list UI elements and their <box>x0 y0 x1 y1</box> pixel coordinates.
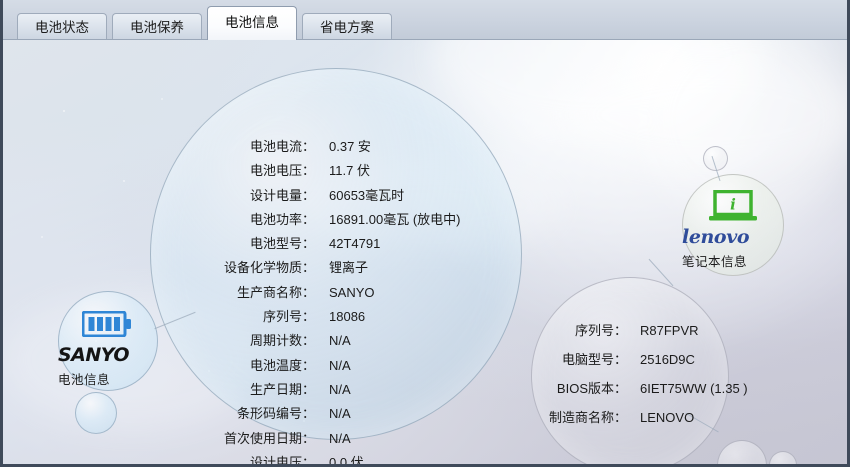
info-row-value: 18086 <box>329 309 365 324</box>
lenovo-badge-title: 笔记本信息 <box>682 251 784 270</box>
info-row-value: 锂离子 <box>329 257 368 276</box>
info-row: 首次使用日期：N/A <box>187 428 461 452</box>
info-row: 设计电量：60653毫瓦时 <box>187 185 461 209</box>
info-row-value: N/A <box>329 358 351 373</box>
info-row-value: 60653毫瓦时 <box>329 185 404 204</box>
sanyo-brand-text: SANYO <box>58 346 158 365</box>
battery-icon <box>58 291 158 342</box>
info-row-label: 序列号： <box>541 320 627 339</box>
info-row-value: 16891.00毫瓦 (放电中) <box>329 209 461 228</box>
info-row-value: 6IET75WW (1.35 ) <box>640 381 748 396</box>
info-row: 生产日期：N/A <box>187 379 461 403</box>
info-row-label: 生产商名称： <box>187 282 315 301</box>
info-row: 生产商名称：SANYO <box>187 282 461 306</box>
info-row-label: 电池电流： <box>187 136 315 155</box>
info-row: 序列号：18086 <box>187 306 461 330</box>
info-row: 条形码编号：N/A <box>187 403 461 427</box>
laptop-info-icon: i <box>682 174 784 227</box>
speck-decoration <box>41 236 43 238</box>
info-row-label: 设计电量： <box>187 185 315 204</box>
info-row-value: N/A <box>329 431 351 446</box>
info-row: 电池型号：42T4791 <box>187 233 461 257</box>
info-row: 周期计数：N/A <box>187 330 461 354</box>
small-bubble-decoration <box>717 440 767 464</box>
content-canvas: SANYO 电池信息 i lenovo 笔记本信息 电池电流：0.37 安电池电… <box>3 40 847 464</box>
speck-decoration <box>161 98 163 100</box>
sanyo-badge[interactable]: SANYO 电池信息 <box>58 291 158 391</box>
window-border-left <box>0 0 3 467</box>
info-row-value: 42T4791 <box>329 236 380 251</box>
lenovo-brand-text: lenovo <box>682 228 784 247</box>
info-row-label: 设计电压： <box>187 452 315 464</box>
sanyo-badge-title: 电池信息 <box>58 369 158 388</box>
info-row-value: N/A <box>329 333 351 348</box>
battery-info-list: 电池电流：0.37 安电池电压：11.7 伏设计电量：60653毫瓦时电池功率：… <box>187 136 461 464</box>
speck-decoration <box>63 110 65 112</box>
info-row-value: LENOVO <box>640 410 694 425</box>
info-row: 电池电压：11.7 伏 <box>187 160 461 184</box>
info-row: 设备化学物质：锂离子 <box>187 257 461 281</box>
info-row-label: 生产日期： <box>187 379 315 398</box>
tab-1[interactable]: 电池保养 <box>112 13 202 40</box>
info-row-value: 11.7 伏 <box>329 160 370 179</box>
tab-0[interactable]: 电池状态 <box>17 13 107 40</box>
tab-list: 电池状态电池保养电池信息省电方案 <box>17 6 397 40</box>
info-row-value: 0.37 安 <box>329 136 371 155</box>
small-bubble-decoration <box>769 451 797 464</box>
info-row-label: 条形码编号： <box>187 403 315 422</box>
info-row: 设计电压：0.0 伏 <box>187 452 461 464</box>
info-row: BIOS版本：6IET75WW (1.35 ) <box>541 378 748 407</box>
info-row-value: 0.0 伏 <box>329 452 364 464</box>
computer-info-list: 序列号：R87FPVR电脑型号：2516D9CBIOS版本：6IET75WW (… <box>541 320 748 436</box>
info-row: 制造商名称：LENOVO <box>541 407 748 436</box>
svg-text:i: i <box>730 196 736 214</box>
info-row-value: N/A <box>329 406 351 421</box>
info-row: 电脑型号：2516D9C <box>541 349 748 378</box>
info-row-label: 电池温度： <box>187 355 315 374</box>
info-row-label: 首次使用日期： <box>187 428 315 447</box>
info-row-value: 2516D9C <box>640 352 695 367</box>
info-row: 电池电流：0.37 安 <box>187 136 461 160</box>
info-row-label: 电池电压： <box>187 160 315 179</box>
info-row-label: 电池功率： <box>187 209 315 228</box>
lenovo-badge[interactable]: i lenovo 笔记本信息 <box>682 174 784 276</box>
info-row-value: R87FPVR <box>640 323 699 338</box>
info-row: 电池功率：16891.00毫瓦 (放电中) <box>187 209 461 233</box>
tab-2[interactable]: 电池信息 <box>207 6 297 40</box>
tab-bar: 电池状态电池保养电池信息省电方案 <box>3 0 847 40</box>
info-row-value: N/A <box>329 382 351 397</box>
tab-3[interactable]: 省电方案 <box>302 13 392 40</box>
info-row-label: 制造商名称： <box>541 407 627 426</box>
info-row-label: 序列号： <box>187 306 315 325</box>
info-row-label: 电池型号： <box>187 233 315 252</box>
info-row-label: 周期计数： <box>187 330 315 349</box>
info-row-value: SANYO <box>329 285 375 300</box>
speck-decoration <box>123 180 125 182</box>
cloud-decoration <box>433 40 763 130</box>
info-row-label: 设备化学物质： <box>187 257 315 276</box>
small-bubble-decoration <box>75 392 117 434</box>
info-row: 序列号：R87FPVR <box>541 320 748 349</box>
battery-info-window: 电池状态电池保养电池信息省电方案 <box>0 0 850 467</box>
info-row-label: 电脑型号： <box>541 349 627 368</box>
info-row-label: BIOS版本： <box>541 378 627 397</box>
info-row: 电池温度：N/A <box>187 355 461 379</box>
